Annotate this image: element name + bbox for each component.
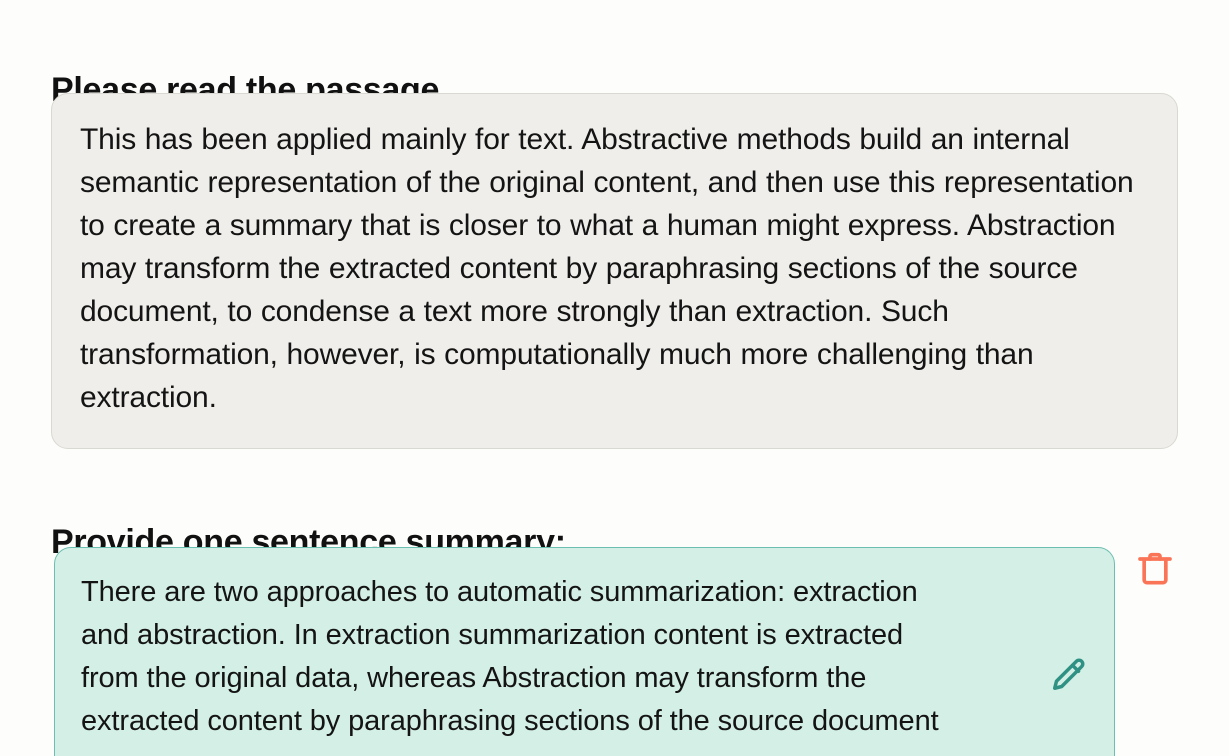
passage-card: This has been applied mainly for text. A… — [51, 93, 1178, 449]
delete-summary-button[interactable] — [1132, 547, 1178, 593]
trash-icon — [1135, 549, 1175, 592]
pencil-icon — [1047, 655, 1089, 700]
passage-text: This has been applied mainly for text. A… — [80, 118, 1149, 419]
page-root: Please read the passage This has been ap… — [0, 0, 1229, 756]
edit-summary-button[interactable] — [1043, 652, 1093, 702]
summary-answer-text: There are two approaches to automatic su… — [81, 571, 961, 743]
summary-answer-card[interactable]: There are two approaches to automatic su… — [54, 547, 1115, 756]
